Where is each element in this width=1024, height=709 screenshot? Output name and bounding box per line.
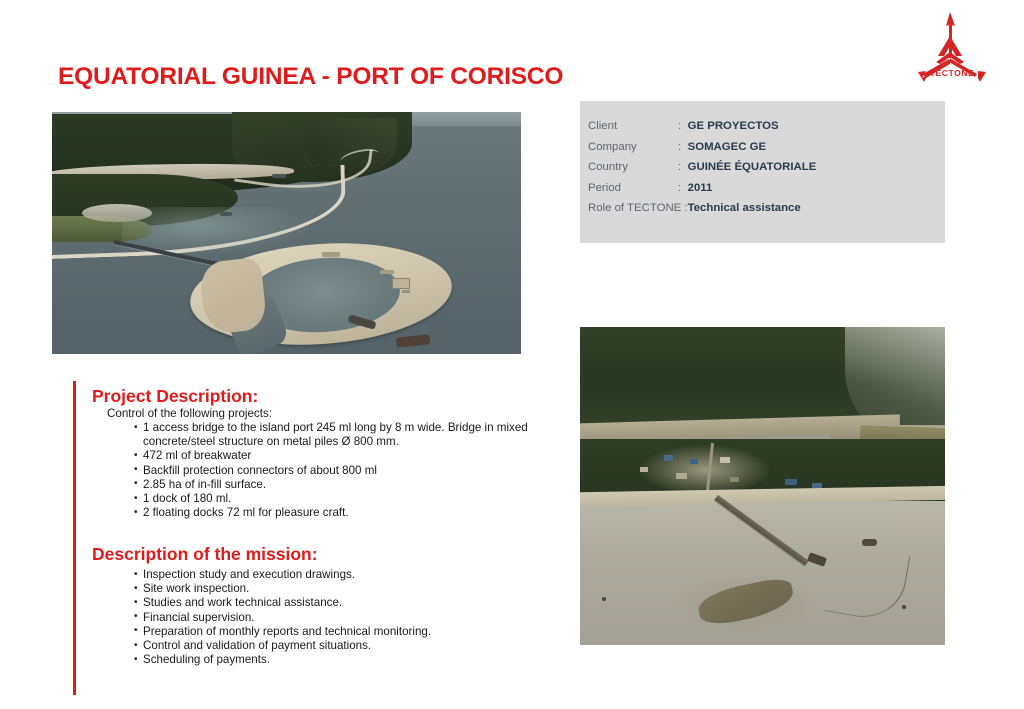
table-row: Company : SOMAGEC GE [588,141,816,162]
project-info-table: Client : GE PROYECTOS Company : SOMAGEC … [588,120,816,223]
list-item: Studies and work technical assistance. [134,596,540,610]
page-title: EQUATORIAL GUINEA - PORT OF CORISCO [58,63,563,91]
tectone-logo-text: TECTONE [900,68,1004,78]
list-item: 472 ml of breakwater [134,449,540,463]
table-row: Country : GUINÉE ÉQUATORIALE [588,161,816,182]
info-value-period: 2011 [688,182,817,203]
table-row: Period : 2011 [588,182,816,203]
list-item: 2.85 ha of in-fill surface. [134,478,540,492]
table-row: Role of TECTONE : Technical assistance [588,202,816,223]
table-row: Client : GE PROYECTOS [588,120,816,141]
info-value-country: GUINÉE ÉQUATORIALE [688,161,817,182]
info-label-role: Role of TECTONE : [588,202,688,223]
list-item: 1 dock of 180 ml. [134,492,540,506]
info-separator: : [678,182,688,203]
tectone-logo: TECTONE [900,6,1004,86]
info-value-role: Technical assistance [688,202,817,223]
list-item: Backfill protection connectors of about … [134,464,540,478]
aerial-breakwater-photo [52,112,521,354]
list-item: Financial supervision. [134,611,540,625]
list-item: Preparation of monthly reports and techn… [134,625,540,639]
info-value-client: GE PROYECTOS [688,120,817,141]
list-item: Control and validation of payment situat… [134,639,540,653]
info-value-company: SOMAGEC GE [688,141,817,162]
info-label-company: Company [588,141,678,162]
info-separator: : [678,120,688,141]
info-label-client: Client [588,120,678,141]
list-item: Inspection study and execution drawings. [134,568,540,582]
list-item: Scheduling of payments. [134,653,540,667]
project-info-box: Client : GE PROYECTOS Company : SOMAGEC … [580,101,945,243]
list-item: Site work inspection. [134,582,540,596]
list-item: 1 access bridge to the island port 245 m… [134,421,540,449]
mission-description-heading: Description of the mission: [92,544,318,565]
project-description-heading: Project Description: [92,386,258,407]
project-description-list: 1 access bridge to the island port 245 m… [134,421,540,520]
mission-description-list: Inspection study and execution drawings.… [134,568,540,667]
info-separator: : [678,161,688,182]
list-item: 2 floating docks 72 ml for pleasure craf… [134,506,540,520]
project-description-intro: Control of the following projects: [107,407,272,420]
info-separator: : [678,141,688,162]
village-jetty-photo [580,327,945,645]
section-accent-rule [73,381,76,695]
info-label-country: Country [588,161,678,182]
info-label-period: Period [588,182,678,203]
